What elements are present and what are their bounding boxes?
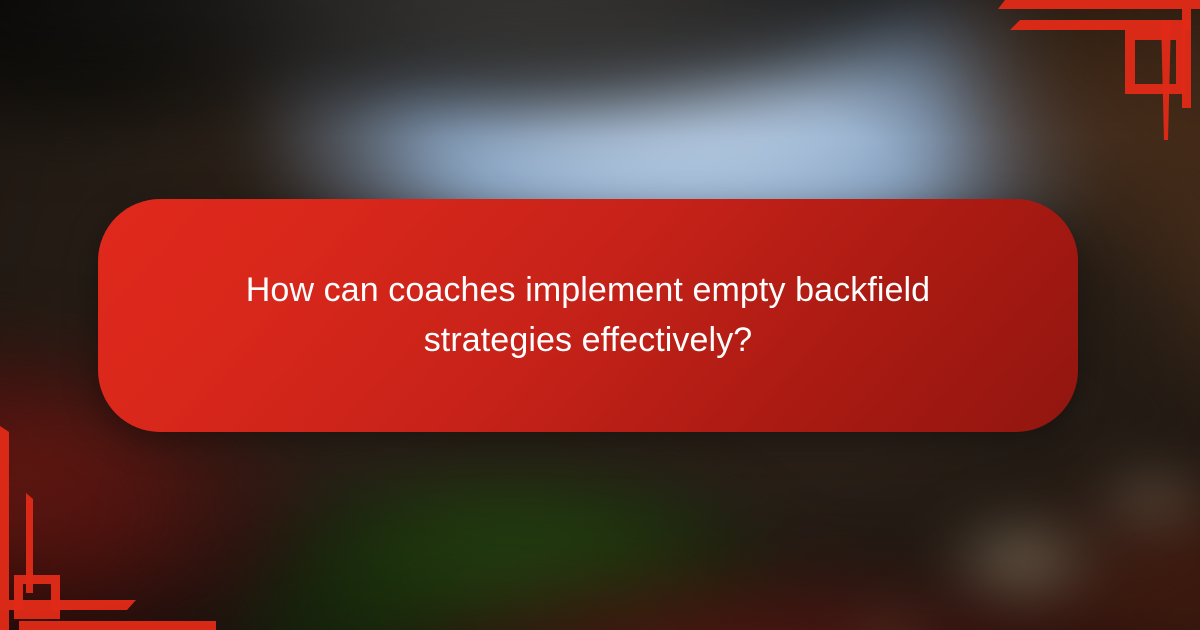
ornament-bar-horizontal-lower — [19, 621, 216, 630]
corner-ornament-top-right — [984, 0, 1200, 146]
question-card-graphic: How can coaches implement empty backfiel… — [0, 0, 1200, 630]
ornament-bar-vertical-outer — [0, 426, 9, 630]
question-card: How can coaches implement empty backfiel… — [98, 199, 1078, 432]
ornament-bar-horizontal-upper — [998, 0, 1200, 9]
ornament-bar-horizontal-upper — [9, 600, 136, 610]
corner-ornament-bottom-left — [0, 418, 216, 630]
question-text: How can coaches implement empty backfiel… — [193, 266, 983, 365]
ornament-square-right-edge — [51, 584, 60, 610]
ornament-square-right-edge — [1176, 40, 1185, 84]
